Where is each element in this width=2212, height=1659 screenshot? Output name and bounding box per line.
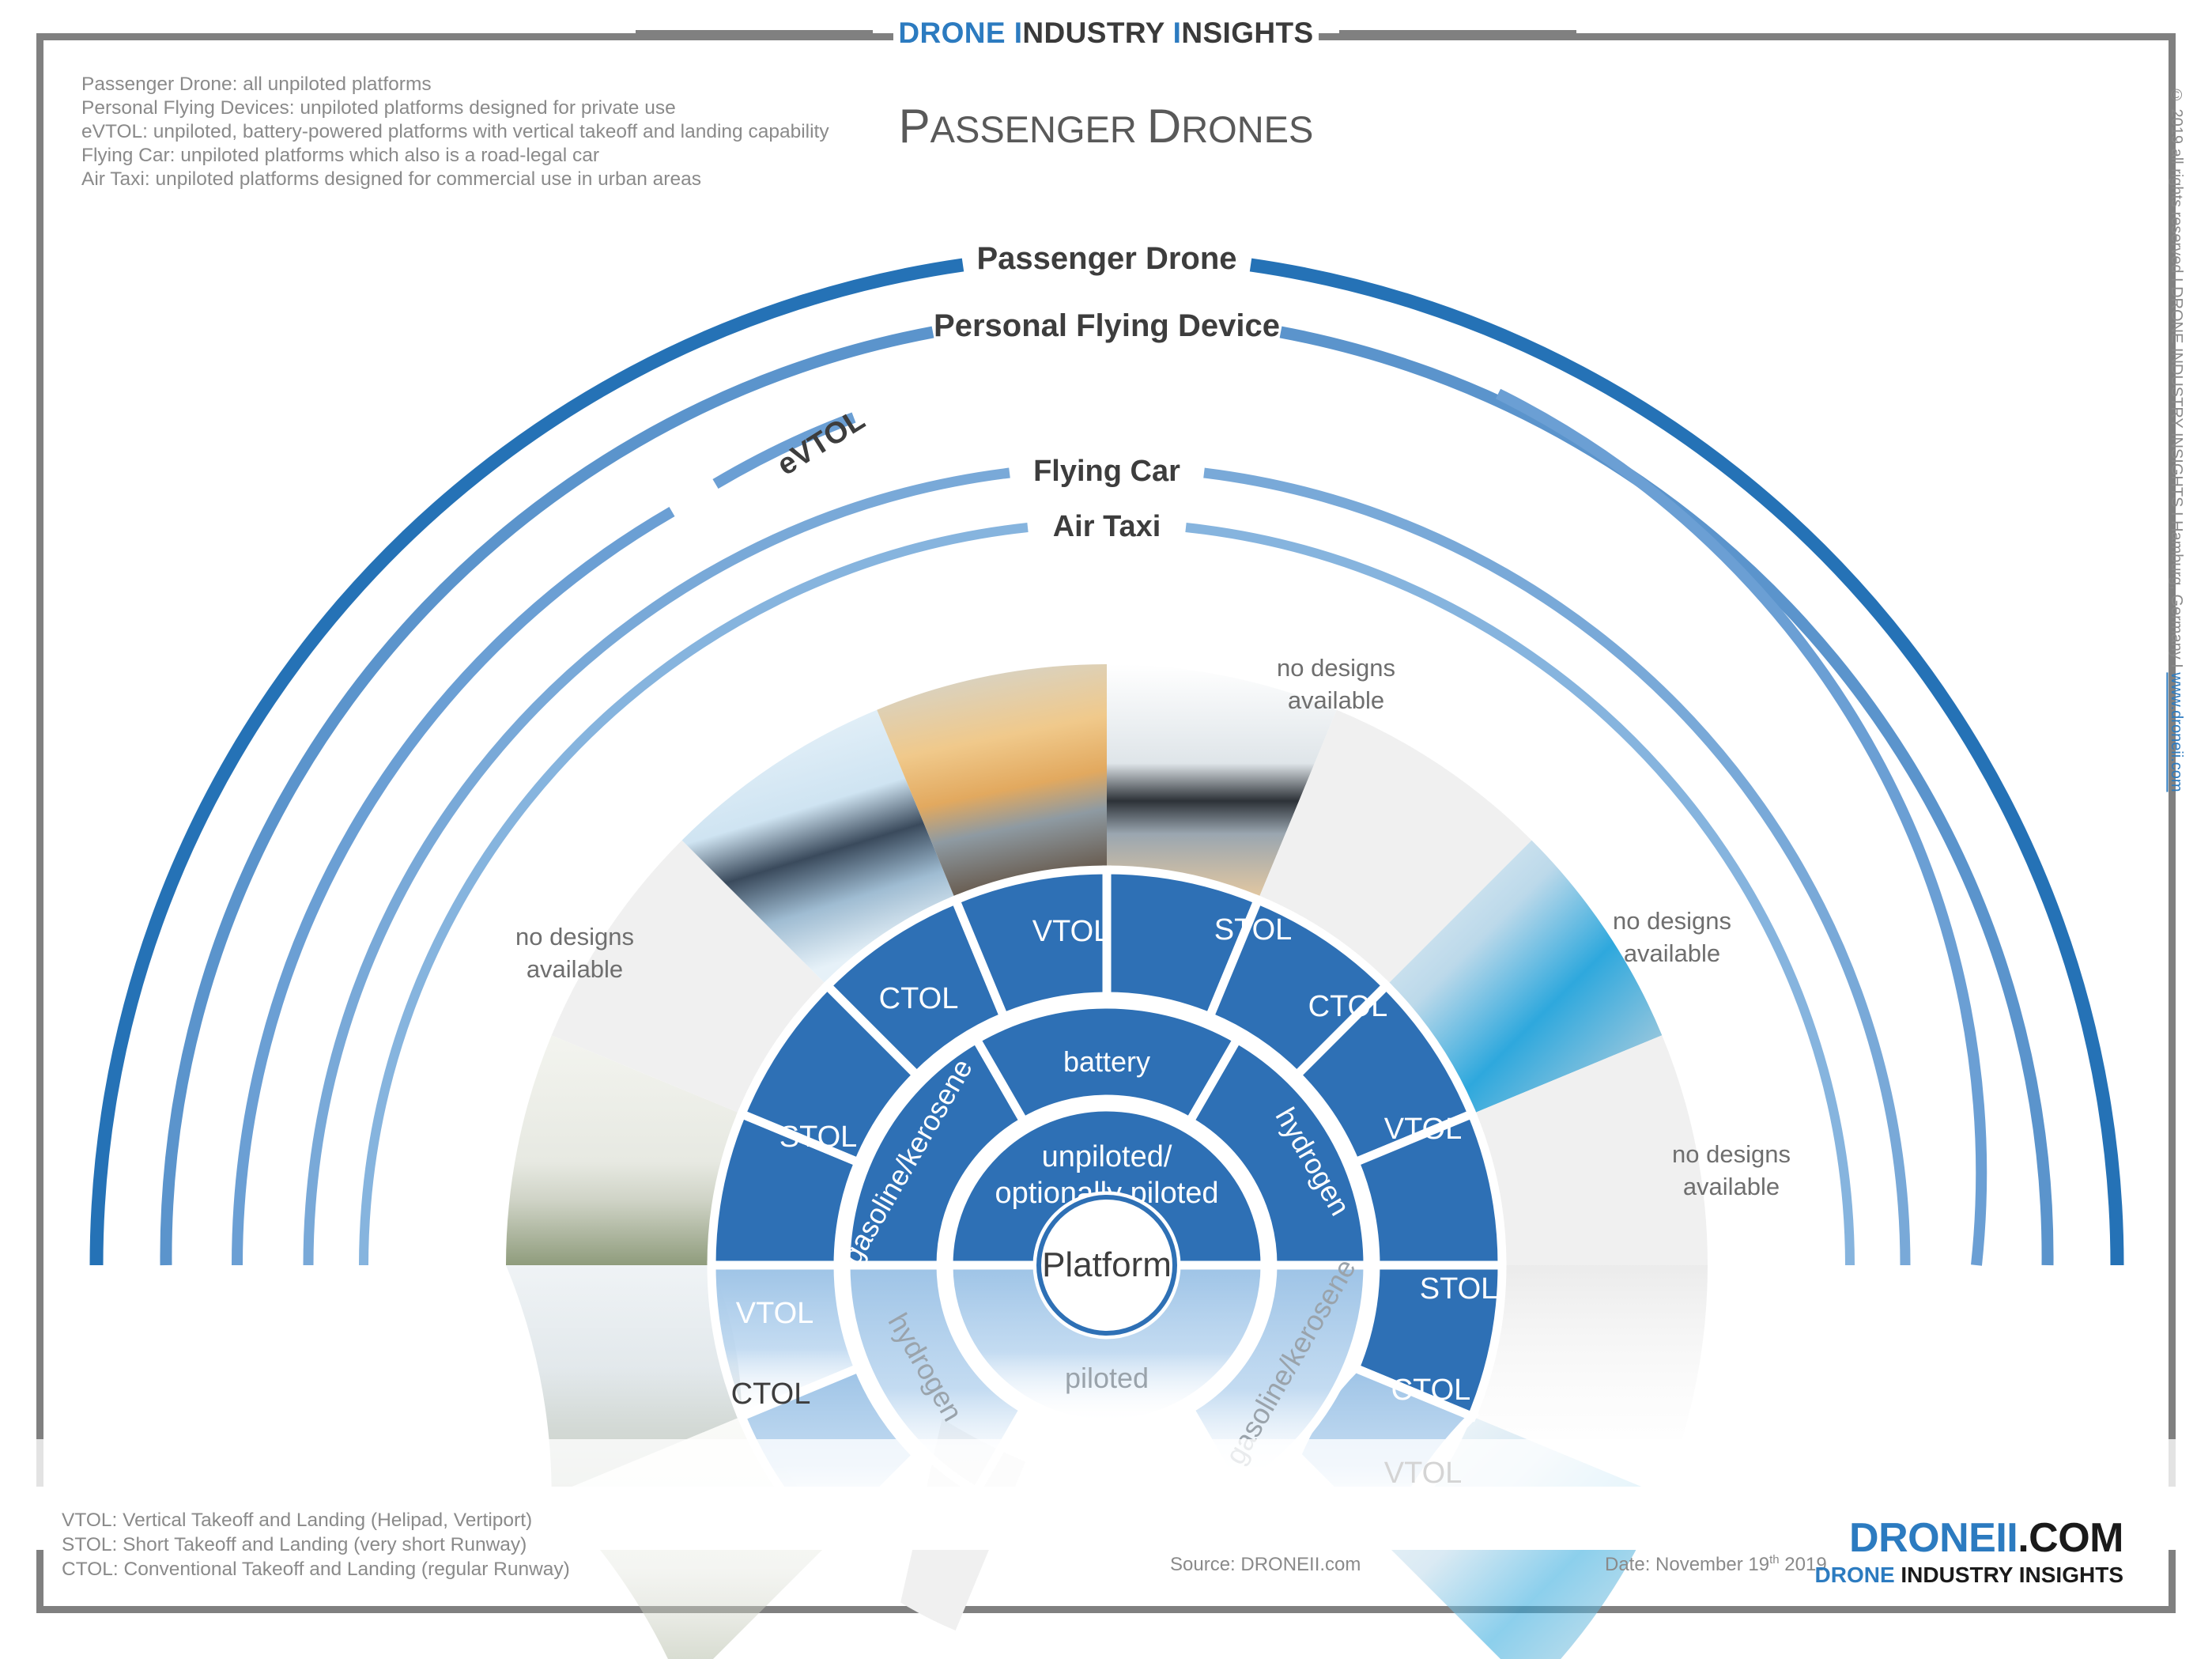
- brand-header: DRONE INDUSTRY INSIGHTS: [0, 0, 2212, 66]
- date-ordinal: th: [1769, 1553, 1780, 1566]
- logo-wordmark: DRONEII.COM: [1815, 1517, 2124, 1559]
- brand-i2: I: [1173, 17, 1182, 49]
- no-designs-label-3: no designsavailable: [1613, 907, 1731, 967]
- abbreviation-legend: VTOL: Vertical Takeoff and Landing (Heli…: [62, 1508, 570, 1582]
- logo-tagline: DRONE INDUSTRY INSIGHTS: [1815, 1564, 2124, 1586]
- takeoff-label-vtol-right: VTOL: [1384, 1113, 1463, 1146]
- brand-industry: NDUSTRY: [1022, 17, 1172, 49]
- piloting-label-piloted: piloted: [1065, 1362, 1149, 1394]
- takeoff-label-stol-top: STOL: [1214, 913, 1293, 947]
- header-rule-left: [636, 30, 873, 37]
- legend-stol: STOL: Short Takeoff and Landing (very sh…: [62, 1532, 570, 1557]
- page-title: PASSENGER DRONES: [0, 99, 2212, 153]
- legend-vtol: VTOL: Vertical Takeoff and Landing (Heli…: [62, 1508, 570, 1532]
- copyright-text: © 2019 all rights reserved I DRONE INDUS…: [2168, 87, 2185, 672]
- passenger-drone-sunburst: Passenger Drone Personal Flying Device e…: [0, 0, 2212, 1659]
- brand-title: DRONE INDUSTRY INSIGHTS: [893, 17, 1318, 50]
- energy-label-battery: battery: [1063, 1045, 1150, 1078]
- takeoff-label-ctol-right: CTOL: [1391, 1374, 1471, 1407]
- arc-label-personal-flying-device: Personal Flying Device: [934, 308, 1280, 343]
- copyright-vertical: © 2019 all rights reserved I DRONE INDUS…: [2167, 87, 2185, 792]
- title-rones: RONES: [1181, 108, 1313, 150]
- logo-tagline-drone: DRONE: [1815, 1563, 1901, 1587]
- logo-droneii: DRONEII: [1849, 1515, 2018, 1561]
- takeoff-label-stol-left: STOL: [779, 1120, 858, 1154]
- droneii-logo[interactable]: DRONEII.COM DRONE INDUSTRY INSIGHTS: [1815, 1517, 2124, 1586]
- title-assenger: ASSENGER: [930, 108, 1147, 150]
- definition-passenger-drone: Passenger Drone: all unpiloted platforms: [81, 73, 919, 96]
- arc-label-air-taxi: Air Taxi: [1053, 510, 1161, 543]
- source-text: Source: DRONEII.com: [1170, 1554, 1361, 1576]
- center-hub: Platform: [1039, 1197, 1175, 1333]
- takeoff-label-ctol-top: CTOL: [1308, 990, 1388, 1023]
- date-text: Date: November 19th 2019: [1605, 1553, 1827, 1576]
- title-p: P: [899, 100, 930, 153]
- takeoff-label-ctol-bottom: CTOL: [731, 1377, 811, 1411]
- definition-air-taxi: Air Taxi: unpiloted platforms designed f…: [81, 168, 919, 191]
- brand-i1: I: [1014, 17, 1023, 49]
- no-designs-label-2: no designsavailable: [1277, 654, 1395, 714]
- takeoff-label-stol-right: STOL: [1420, 1272, 1498, 1306]
- brand-insights: NSIGHTS: [1181, 17, 1313, 49]
- center-hub-label: Platform: [1042, 1245, 1172, 1284]
- logo-com: .COM: [2018, 1515, 2123, 1561]
- title-d: D: [1147, 100, 1181, 153]
- droneii-link[interactable]: www.droneii.com: [2168, 672, 2185, 792]
- legend-ctol: CTOL: Conventional Takeoff and Landing (…: [62, 1557, 570, 1582]
- takeoff-label-ctol-left: CTOL: [879, 982, 959, 1015]
- takeoff-label-vtol-topleft: VTOL: [1032, 915, 1111, 948]
- brand-drone: DRONE: [898, 17, 1006, 49]
- takeoff-label-vtol-left: VTOL: [736, 1297, 814, 1330]
- arc-label-passenger-drone: Passenger Drone: [976, 241, 1236, 276]
- arc-label-flying-car: Flying Car: [1033, 455, 1180, 488]
- header-rule-right: [1339, 30, 1576, 37]
- logo-tagline-rest: INDUSTRY INSIGHTS: [1901, 1563, 2123, 1587]
- date-prefix: Date: November 19: [1605, 1554, 1769, 1575]
